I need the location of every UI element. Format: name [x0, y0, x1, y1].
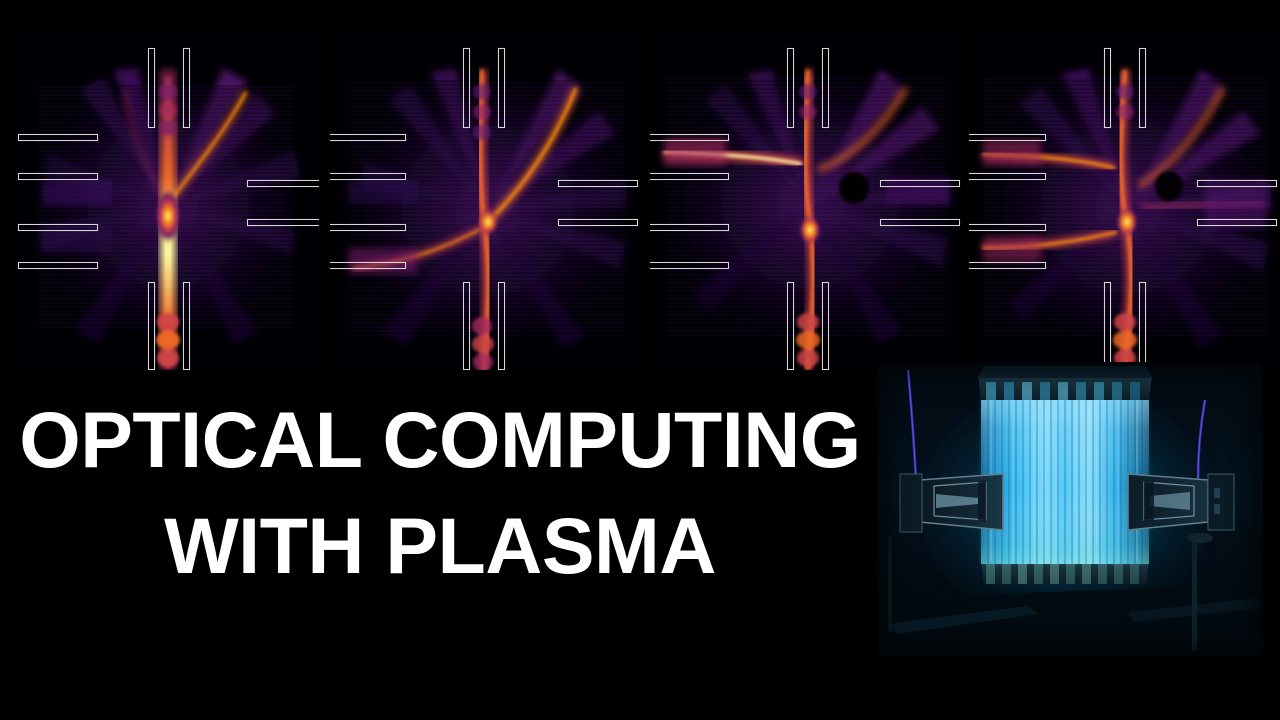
waveguide-bottom-left-2	[463, 282, 470, 370]
title-line-1: OPTICAL COMPUTING	[0, 398, 880, 482]
wave-field-3	[650, 30, 961, 370]
waveguide-bottom-right-1	[183, 282, 190, 370]
waveguide-right-port-3a	[880, 180, 960, 187]
simulation-frame-1	[8, 30, 319, 370]
waveguide-left-port-4c	[969, 224, 1046, 231]
waveguide-right-port-2b	[558, 219, 638, 226]
plasma-device-photo	[878, 362, 1263, 656]
waveguide-bottom-right-4	[1139, 282, 1146, 370]
waveguide-top-left-3	[787, 48, 794, 128]
simulation-frame-2	[330, 30, 641, 370]
waveguide-left-port-4b	[969, 173, 1046, 180]
waveguide-left-port-1d	[18, 262, 98, 269]
waveguide-left-port-4a	[969, 134, 1046, 141]
waveguide-bottom-right-2	[498, 282, 505, 370]
waveguide-top-left-2	[463, 48, 470, 128]
waveguide-left-port-1a	[18, 134, 98, 141]
waveguide-left-port-2d	[330, 262, 406, 269]
simulation-frame-4	[969, 30, 1280, 370]
waveguide-right-port-1a	[247, 180, 319, 187]
waveguide-right-port-2a	[558, 180, 638, 187]
waveguide-right-port-4a	[1197, 180, 1277, 187]
waveguide-left-port-1b	[18, 173, 98, 180]
simulation-frame-3	[650, 30, 961, 370]
waveguide-right-port-1b	[247, 219, 319, 226]
waveguide-bottom-left-3	[787, 282, 794, 370]
waveguide-right-port-4b	[1197, 219, 1277, 226]
waveguide-bottom-right-3	[822, 282, 829, 370]
waveguide-left-port-3d	[650, 262, 729, 269]
waveguide-right-port-3b	[880, 219, 960, 226]
waveguide-left-port-2c	[330, 224, 406, 231]
wave-field-2	[330, 30, 641, 370]
waveguide-top-right-3	[822, 48, 829, 128]
simulation-strip	[0, 30, 1280, 370]
thumbnail-title: OPTICAL COMPUTING WITH PLASMA	[0, 398, 880, 588]
waveguide-top-right-1	[183, 48, 190, 128]
waveguide-left-port-1c	[18, 224, 98, 231]
plasma-photo-artwork	[878, 362, 1263, 656]
wave-field-1	[8, 30, 319, 370]
waveguide-bottom-left-1	[148, 282, 155, 370]
waveguide-left-port-3c	[650, 224, 729, 231]
waveguide-left-port-4d	[969, 262, 1046, 269]
waveguide-left-port-3a	[650, 134, 729, 141]
waveguide-bottom-left-4	[1104, 282, 1111, 370]
waveguide-left-port-2a	[330, 134, 406, 141]
waveguide-left-port-3b	[650, 173, 729, 180]
waveguide-top-right-4	[1139, 48, 1146, 128]
title-line-2: WITH PLASMA	[0, 504, 880, 588]
waveguide-left-port-2b	[330, 173, 406, 180]
waveguide-top-left-1	[148, 48, 155, 128]
thumbnail-canvas: OPTICAL COMPUTING WITH PLASMA	[0, 0, 1280, 720]
waveguide-top-right-2	[498, 48, 505, 128]
wave-field-4	[969, 30, 1280, 370]
left-horn-antenna	[900, 474, 1003, 532]
waveguide-top-left-4	[1104, 48, 1111, 128]
